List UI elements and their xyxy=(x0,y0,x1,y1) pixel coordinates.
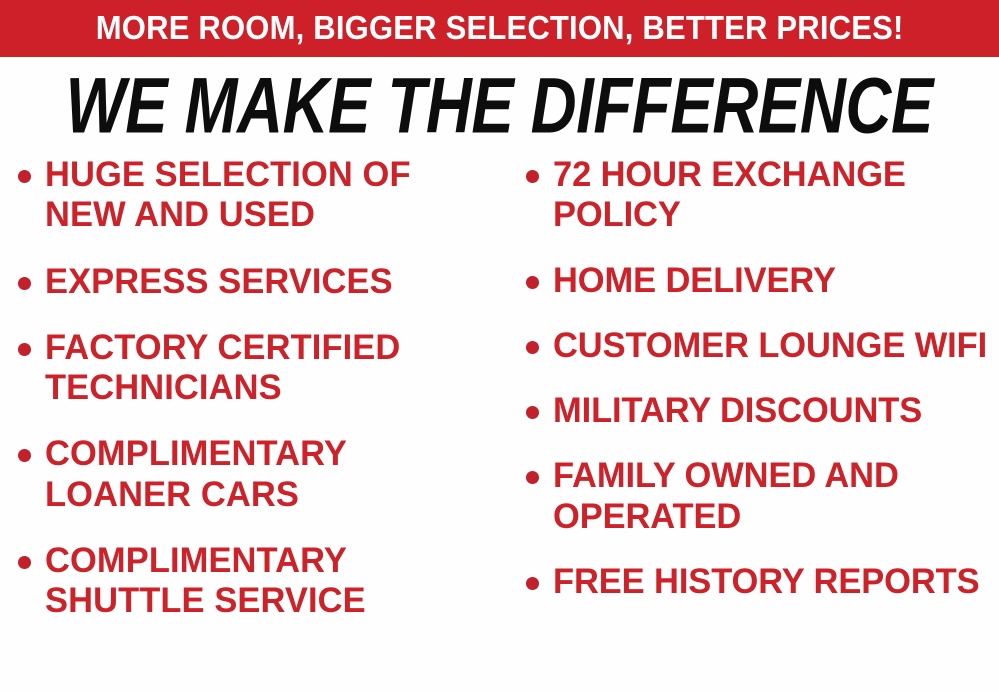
bullet-dot-icon xyxy=(18,449,31,462)
list-item-label: MILITARY DISCOUNTS xyxy=(553,391,922,431)
list-item: HUGE SELECTION OF NEW AND USED xyxy=(18,155,502,236)
features-right-column: 72 HOUR EXCHANGE POLICY HOME DELIVERY CU… xyxy=(506,155,999,627)
list-item-label: FREE HISTORY REPORTS xyxy=(553,562,980,602)
list-item-label: 72 HOUR EXCHANGE POLICY xyxy=(553,155,990,236)
advertisement-banner: MORE ROOM, BIGGER SELECTION, BETTER PRIC… xyxy=(0,0,999,692)
list-item: COMPLIMENTARY SHUTTLE SERVICE xyxy=(18,541,502,622)
headline-container: WE MAKE THE DIFFERENCE xyxy=(0,62,999,150)
bullet-dot-icon xyxy=(18,556,31,569)
list-item: FREE HISTORY REPORTS xyxy=(526,562,997,602)
list-item-label: FAMILY OWNED AND OPERATED xyxy=(553,456,990,537)
list-item-label: EXPRESS SERVICES xyxy=(45,262,393,302)
list-item-label: HUGE SELECTION OF NEW AND USED xyxy=(45,155,495,236)
bullet-dot-icon xyxy=(526,471,539,484)
list-item: MILITARY DISCOUNTS xyxy=(526,391,997,431)
list-item: FACTORY CERTIFIED TECHNICIANS xyxy=(18,328,502,409)
list-item-label: HOME DELIVERY xyxy=(553,261,836,301)
list-item: CUSTOMER LOUNGE WIFI xyxy=(526,326,997,366)
bullet-dot-icon xyxy=(526,406,539,419)
promo-banner-text: MORE ROOM, BIGGER SELECTION, BETTER PRIC… xyxy=(96,11,904,46)
list-item-label: COMPLIMENTARY SHUTTLE SERVICE xyxy=(45,541,495,622)
bullet-dot-icon xyxy=(18,343,31,356)
list-item-label: COMPLIMENTARY LOANER CARS xyxy=(45,434,495,515)
list-item: 72 HOUR EXCHANGE POLICY xyxy=(526,155,997,236)
bullet-dot-icon xyxy=(526,276,539,289)
list-item: FAMILY OWNED AND OPERATED xyxy=(526,456,997,537)
bullet-dot-icon xyxy=(526,170,539,183)
list-item: HOME DELIVERY xyxy=(526,261,997,301)
bullet-dot-icon xyxy=(526,341,539,354)
features-columns: HUGE SELECTION OF NEW AND USED EXPRESS S… xyxy=(0,155,999,692)
features-left-column: HUGE SELECTION OF NEW AND USED EXPRESS S… xyxy=(0,155,506,647)
bullet-dot-icon xyxy=(18,277,31,290)
list-item: COMPLIMENTARY LOANER CARS xyxy=(18,434,502,515)
promo-banner: MORE ROOM, BIGGER SELECTION, BETTER PRIC… xyxy=(0,0,999,57)
bullet-dot-icon xyxy=(526,577,539,590)
bullet-dot-icon xyxy=(18,170,31,183)
list-item-label: CUSTOMER LOUNGE WIFI xyxy=(553,326,987,366)
page-title: WE MAKE THE DIFFERENCE xyxy=(66,67,933,145)
list-item-label: FACTORY CERTIFIED TECHNICIANS xyxy=(45,328,495,409)
list-item: EXPRESS SERVICES xyxy=(18,262,502,302)
